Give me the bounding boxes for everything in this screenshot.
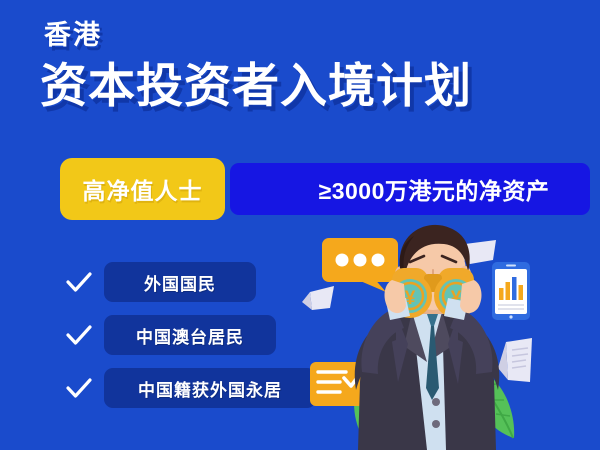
list-item: 中国籍获外国永居 — [62, 368, 316, 408]
checklist-pill: 外国国民 — [104, 262, 256, 302]
poster-kicker: 香港 — [44, 22, 102, 49]
checklist-pill: 中国籍获外国永居 — [104, 368, 316, 408]
check-icon — [62, 318, 96, 352]
poster-headline: 资本投资者入境计划 — [40, 62, 472, 109]
poster-root: 香港 资本投资者入境计划 ≥3000万港元的净资产 高净值人士 外国国民 中国澳… — [0, 0, 600, 450]
list-item: 中国澳台居民 — [62, 315, 316, 355]
list-item: 外国国民 — [62, 262, 316, 302]
illustration-businessman-with-coin-binoculars: ¥ ¥ — [300, 222, 600, 450]
net-asset-value-label: ≥3000万港元的净资产 — [271, 172, 550, 206]
checklist-item-label: 外国国民 — [144, 270, 216, 295]
high-net-worth-label: 高净值人士 — [83, 172, 203, 206]
eligibility-checklist: 外国国民 中国澳台居民 中国籍获外国永居 — [62, 262, 316, 421]
suit-button — [432, 420, 440, 428]
paper-sheet-left — [302, 286, 334, 310]
paper-sheet-right — [498, 338, 532, 382]
smartphone-chart-icon — [492, 262, 530, 320]
high-net-worth-badge: 高净值人士 — [60, 158, 225, 220]
hand-right — [460, 280, 481, 313]
checklist-item-label: 中国澳台居民 — [136, 323, 244, 348]
check-icon — [62, 265, 96, 299]
checklist-item-label: 中国籍获外国永居 — [138, 376, 282, 401]
net-asset-value-pill: ≥3000万港元的净资产 — [230, 163, 590, 215]
speech-bubble-icon — [322, 238, 398, 292]
checklist-pill: 中国澳台居民 — [104, 315, 276, 355]
check-icon — [62, 371, 96, 405]
suit-button — [432, 398, 440, 406]
